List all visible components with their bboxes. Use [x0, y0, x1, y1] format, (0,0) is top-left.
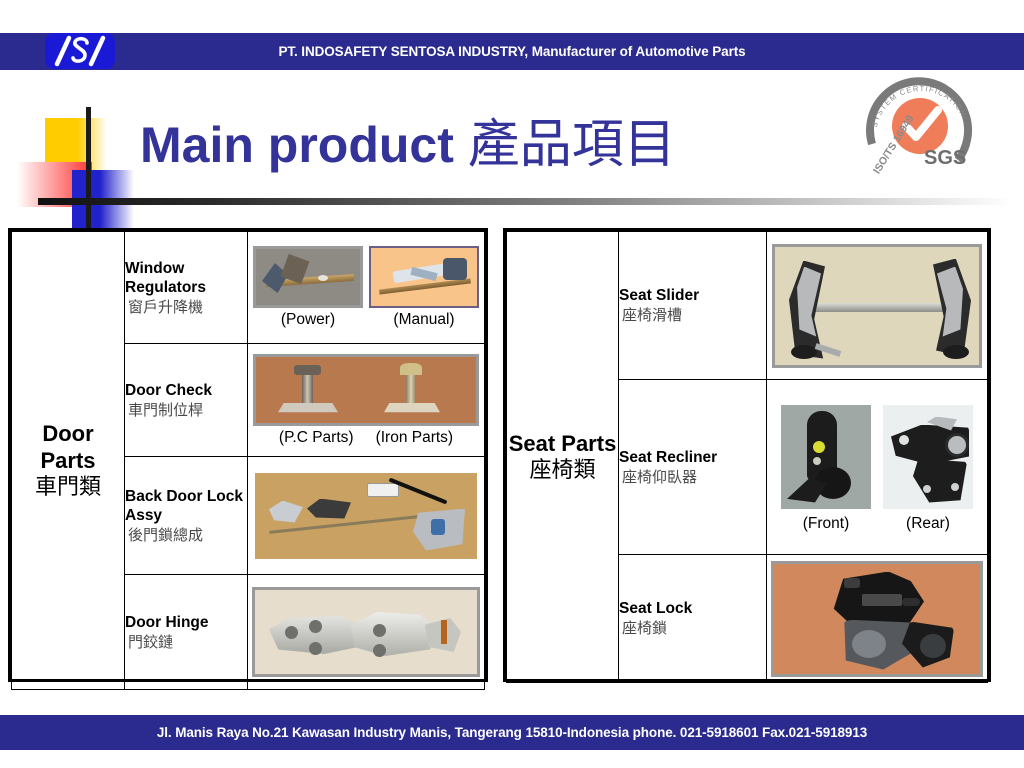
product-name-en: Back Door Lock Assy: [125, 487, 247, 525]
category-label-cn: 車門類: [12, 474, 124, 501]
decorative-vertical-rule: [86, 107, 91, 232]
seat-parts-table: Seat Parts 座椅類 Seat Slider 座椅滑槽: [503, 228, 991, 682]
product-photo-back-door-lock-assy: [252, 470, 480, 562]
sgs-certification-logo: SYSTEM CERTIFICATION ISO/TS 16949 SGS: [858, 74, 984, 182]
product-name-en: Door Check: [125, 381, 247, 400]
sgs-body-label: SGS: [924, 147, 966, 169]
category-label-en: Door Parts: [12, 420, 124, 474]
caption-iron-parts: (Iron Parts): [376, 429, 454, 447]
product-name-cell-window-regulators: Window Regulators 窗戶升降機: [125, 232, 248, 344]
product-name-cn: 座椅鎖: [619, 618, 766, 638]
product-photo-seat-recliner-front: [778, 402, 874, 512]
table-row: Seat Parts 座椅類 Seat Slider 座椅滑槽: [507, 232, 988, 380]
product-name-en: Window Regulators: [125, 259, 247, 297]
category-cell-seat-parts: Seat Parts 座椅類: [507, 232, 619, 683]
caption-rear: (Rear): [880, 515, 976, 533]
company-banner: PT. INDOSAFETY SENTOSA INDUSTRY, Manufac…: [0, 33, 1024, 70]
product-name-cn: 車門制位桿: [125, 400, 247, 420]
company-logo: [45, 33, 115, 69]
logo-mark-icon: [45, 33, 115, 69]
product-name-cell-door-hinge: Door Hinge 門鉸鏈: [125, 575, 248, 690]
product-name-cell-door-check: Door Check 車門制位桿: [125, 344, 248, 457]
caption-pc-parts: (P.C Parts): [279, 429, 354, 447]
product-image-cell-door-hinge: [248, 575, 485, 690]
product-name-en: Door Hinge: [125, 613, 247, 632]
product-photo-door-hinge: [252, 587, 480, 677]
product-image-cell-door-check: (P.C Parts) (Iron Parts): [248, 344, 485, 457]
product-photo-seat-lock: [771, 561, 983, 677]
product-image-cell-window-regulators: (Power) (Manual): [248, 232, 485, 344]
product-name-en: Seat Slider: [619, 286, 766, 305]
category-label-cn: 座椅類: [507, 457, 618, 484]
product-name-cell-seat-slider: Seat Slider 座椅滑槽: [619, 232, 767, 380]
header-bar: PT. INDOSAFETY SENTOSA INDUSTRY, Manufac…: [0, 33, 1024, 70]
caption-front: (Front): [778, 515, 874, 533]
caption-manual: (Manual): [369, 311, 479, 329]
sgs-iso-seal-icon: SYSTEM CERTIFICATION ISO/TS 16949 SGS: [858, 74, 984, 182]
product-name-cell-seat-recliner: Seat Recliner 座椅仰臥器: [619, 380, 767, 555]
product-photo-door-check: [253, 354, 479, 426]
footer-address: Jl. Manis Raya No.21 Kawasan Industry Ma…: [0, 715, 1024, 750]
product-name-cn: 窗戶升降機: [125, 297, 247, 317]
decorative-horizontal-rule: [38, 198, 1013, 205]
product-photo-power-window-regulator: [253, 246, 363, 308]
product-image-cell-seat-recliner: (Front) (Rear): [767, 380, 988, 555]
category-cell-door-parts: Door Parts 車門類: [12, 232, 125, 690]
product-name-cell-seat-lock: Seat Lock 座椅鎖: [619, 555, 767, 683]
category-label-en: Seat Parts: [507, 430, 618, 457]
door-parts-table: Door Parts 車門類 Window Regulators 窗戶升降機: [8, 228, 488, 682]
product-image-cell-seat-lock: [767, 555, 988, 683]
page-title-cn: 產品項目: [468, 115, 676, 175]
product-name-cn: 門鉸鏈: [125, 632, 247, 652]
footer-bar: Jl. Manis Raya No.21 Kawasan Industry Ma…: [0, 715, 1024, 750]
product-photo-seat-recliner-rear: [880, 402, 976, 512]
decorative-blocks: [0, 100, 160, 230]
page-title: Main product 產品項目: [140, 118, 676, 172]
product-name-en: Seat Lock: [619, 599, 766, 618]
page-title-en: Main product: [140, 117, 454, 173]
table-row: Door Parts 車門類 Window Regulators 窗戶升降機: [12, 232, 485, 344]
product-image-cell-seat-slider: [767, 232, 988, 380]
caption-power: (Power): [253, 311, 363, 329]
product-photo-manual-window-regulator: [369, 246, 479, 308]
product-photo-seat-slider: [772, 244, 982, 368]
product-name-cn: 座椅滑槽: [619, 305, 766, 325]
product-name-cell-back-door-lock-assy: Back Door Lock Assy 後門鎖總成: [125, 457, 248, 575]
product-name-cn: 座椅仰臥器: [619, 467, 766, 487]
product-name-cn: 後門鎖總成: [125, 525, 247, 545]
product-name-en: Seat Recliner: [619, 448, 766, 467]
product-image-cell-back-door-lock-assy: [248, 457, 485, 575]
